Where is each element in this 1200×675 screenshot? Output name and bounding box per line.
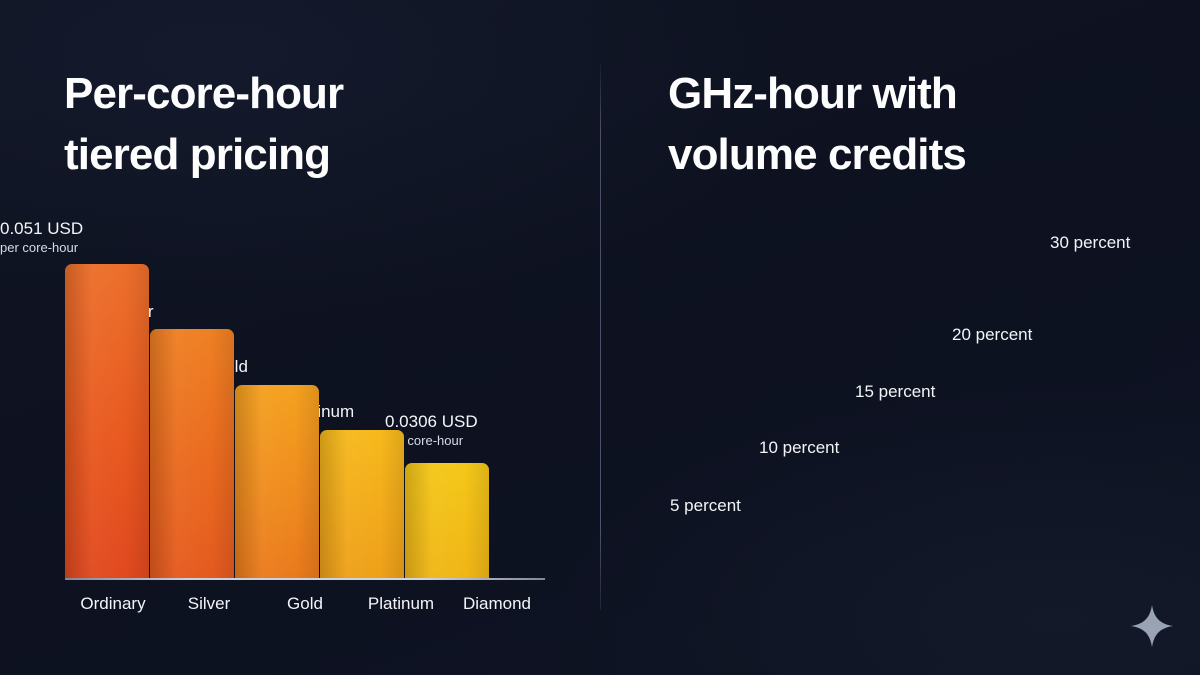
- bar-above-label-100: 5 percent: [670, 496, 741, 516]
- xtick-ordinary: Ordinary: [65, 594, 161, 618]
- left-panel-title: Per-core-hour tiered pricing: [64, 64, 534, 185]
- left-bar-chart: [65, 240, 545, 578]
- xtick-diamond: Diamond: [449, 594, 545, 618]
- sparkle-icon: [1129, 603, 1175, 649]
- bar-above-label-5000: 20 percent: [952, 325, 1032, 345]
- bar-above-label-500: 10 percent: [759, 438, 839, 458]
- xtick-platinum: Platinum: [353, 594, 449, 618]
- bar-sheen: [235, 385, 319, 578]
- left-axis-baseline: [65, 578, 545, 580]
- bar-sheen: [405, 463, 489, 578]
- bar-above-label-1000: 15 percent: [855, 382, 935, 402]
- bar-platinum[interactable]: [320, 430, 404, 578]
- bar-sheen: [65, 264, 149, 578]
- bar-sheen: [320, 430, 404, 578]
- bar-silver[interactable]: [150, 329, 234, 578]
- xtick-silver: Silver: [161, 594, 257, 618]
- bar-ordinary[interactable]: [65, 264, 149, 578]
- callout-high-value: 0.051 USD: [0, 218, 83, 240]
- slide-canvas: Per-core-hour tiered pricing 0.051 USD p…: [0, 0, 1200, 675]
- left-x-axis-labels: Ordinary Silver Gold Platinum Diamond: [65, 594, 545, 618]
- bar-sheen: [150, 329, 234, 578]
- right-panel: GHz-hour with volume credits 5 percent 1…: [600, 0, 1200, 675]
- bar-above-label-10000: 30 percent: [1050, 233, 1130, 253]
- xtick-gold: Gold: [257, 594, 353, 618]
- bar-diamond[interactable]: [405, 463, 489, 578]
- right-panel-title: GHz-hour with volume credits: [668, 64, 1138, 185]
- bar-gold[interactable]: [235, 385, 319, 578]
- left-panel: Per-core-hour tiered pricing 0.051 USD p…: [0, 0, 600, 675]
